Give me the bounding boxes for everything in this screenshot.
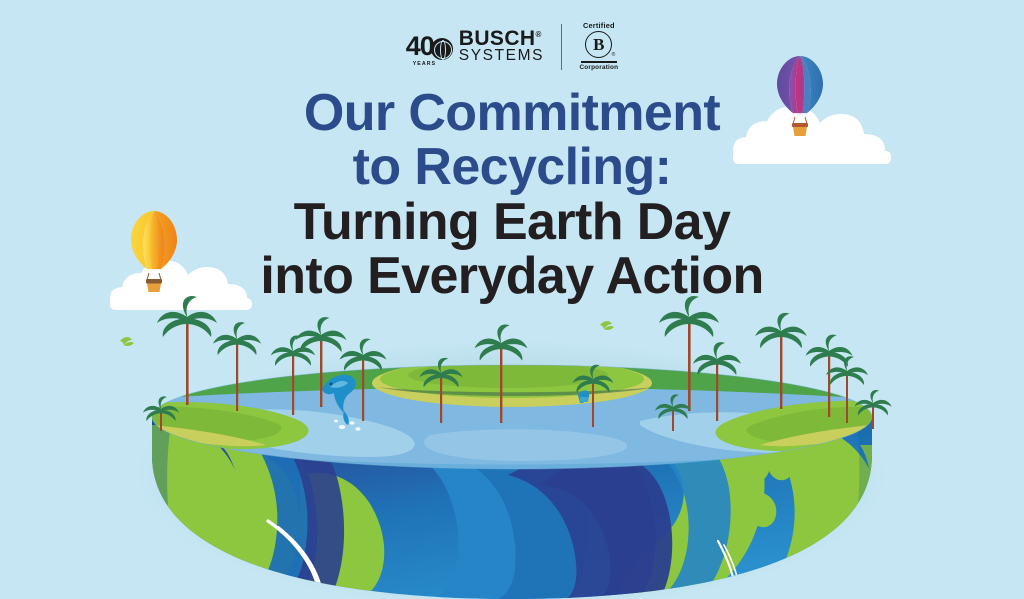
busch-name-text: BUSCH <box>459 27 536 50</box>
bcorp-logo: Certified B Corporation <box>579 22 618 71</box>
bird-right <box>600 321 614 330</box>
bcorp-rule <box>581 61 617 62</box>
globe-icon <box>431 38 453 60</box>
busch-wordmark: BUSCH® SYSTEMS <box>459 29 544 64</box>
registered-mark-icon: ® <box>535 30 541 39</box>
brand-bar: 40 YEARS BUSCH® SYSTEMS Certified B Corp… <box>0 22 1024 71</box>
brand-divider <box>561 24 562 70</box>
headline-line-3: Turning Earth Day <box>0 195 1024 249</box>
bcorp-b-icon: B <box>585 31 612 58</box>
headline-line-1: Our Commitment <box>0 86 1024 140</box>
bcorp-letter: B <box>593 36 604 53</box>
page-title: Our Commitment to Recycling: Turning Ear… <box>0 86 1024 303</box>
anniversary-caption: YEARS <box>413 62 436 67</box>
bird-left <box>120 337 134 346</box>
headline-line-4: into Everyday Action <box>0 249 1024 303</box>
earth-globe-illustration <box>0 295 1024 599</box>
busch-name-line2: SYSTEMS <box>459 49 544 64</box>
busch-name-line1: BUSCH® <box>459 29 544 49</box>
bcorp-bottom-label: Corporation <box>579 65 618 71</box>
bcorp-top-label: Certified <box>583 22 615 29</box>
anniversary-number: 40 <box>406 33 434 60</box>
anniversary-badge: 40 YEARS <box>406 33 453 60</box>
headline-line-2: to Recycling: <box>0 140 1024 194</box>
earth-day-poster: 40 YEARS BUSCH® SYSTEMS Certified B Corp… <box>0 0 1024 599</box>
busch-systems-logo: 40 YEARS BUSCH® SYSTEMS <box>406 29 544 64</box>
